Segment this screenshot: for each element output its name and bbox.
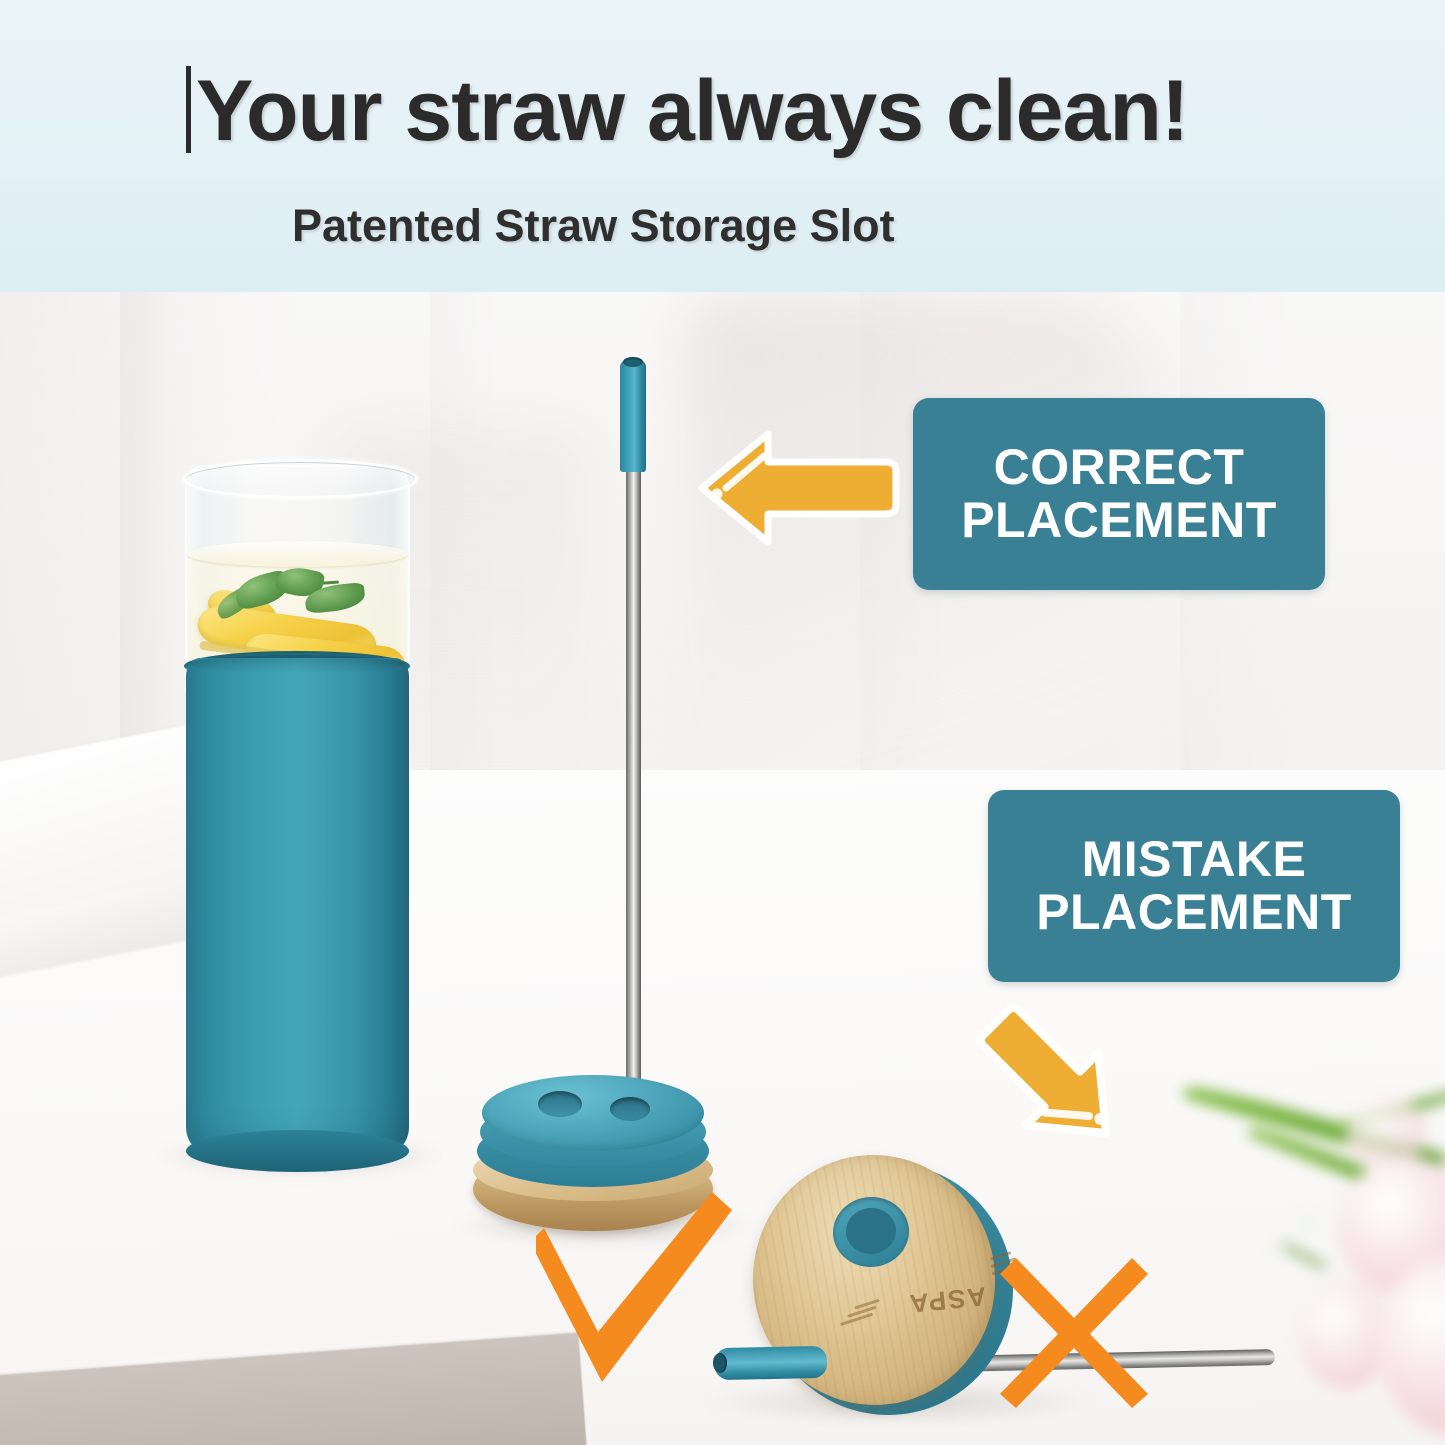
- headline-banner: Your straw always clean! Patented Straw …: [0, 0, 1445, 292]
- flower-bloom-3: [1300, 1280, 1390, 1390]
- arrow-down-left-icon: [958, 985, 1148, 1175]
- badge-mistake-line2: PLACEMENT: [1036, 886, 1352, 939]
- sleeve-inner-shadow: [189, 655, 404, 673]
- silicone-sleeve: [186, 658, 409, 1155]
- glass-rim: [183, 459, 418, 499]
- brand-logo: ASPA: [872, 1257, 987, 1322]
- page-subtitle: Patented Straw Storage Slot: [292, 200, 895, 252]
- badge-mistake-line1: MISTAKE: [1082, 833, 1307, 886]
- plant-bud-3: [1270, 1245, 1290, 1265]
- lid-drink-hole: [538, 1091, 582, 1117]
- badge-mistake-placement: MISTAKE PLACEMENT: [988, 790, 1400, 982]
- badge-correct-line2: PLACEMENT: [961, 494, 1277, 547]
- page-title: Your straw always clean!: [196, 62, 1189, 161]
- arrow-left-icon: [690, 418, 905, 558]
- blurred-flowers: [1150, 1105, 1445, 1445]
- straw-storage-slot: [610, 1097, 650, 1121]
- straw-tip-opening: [623, 357, 643, 367]
- water-surface: [187, 541, 408, 567]
- plant-bud-1: [1296, 1213, 1320, 1237]
- glass-tumbler: [185, 465, 410, 1155]
- badge-correct-placement: CORRECT PLACEMENT: [913, 398, 1325, 590]
- sleeve-bottom: [186, 1130, 409, 1172]
- headline-accent-bar: [186, 66, 191, 153]
- checkmark-icon: [536, 1192, 741, 1382]
- badge-correct-line1: CORRECT: [994, 441, 1245, 494]
- standing-straw: [612, 360, 652, 1150]
- cross-icon: [992, 1248, 1157, 1413]
- straw-silicone-tip: [620, 360, 646, 472]
- straw-steel-rod: [626, 465, 641, 1105]
- product-infographic: ASPA Your: [0, 0, 1445, 1445]
- silicone-lid-top: [482, 1075, 704, 1151]
